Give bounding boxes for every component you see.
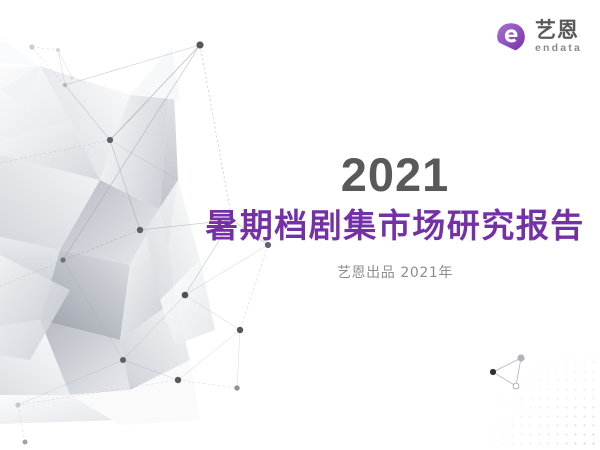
report-byline: 艺恩出品 2021年 <box>200 262 590 282</box>
endata-leaf-e-mark-icon <box>494 20 528 54</box>
corner-node-triangle <box>490 354 525 389</box>
presentation-cover-slide: 艺恩 endata 2021 暑期档剧集市场研究报告 艺恩出品 2021年 <box>0 0 600 450</box>
brand-logo[interactable]: 艺恩 endata <box>494 16 582 58</box>
brand-wordmark: 艺恩 endata <box>535 20 582 54</box>
brand-name-cn: 艺恩 <box>535 20 579 41</box>
page-title: 暑期档剧集市场研究报告 <box>200 207 590 246</box>
low-poly-shape-group <box>0 30 215 425</box>
report-year: 2021 <box>200 150 590 199</box>
title-block: 2021 暑期档剧集市场研究报告 艺恩出品 2021年 <box>200 150 590 282</box>
brand-name-en: endata <box>535 43 582 54</box>
